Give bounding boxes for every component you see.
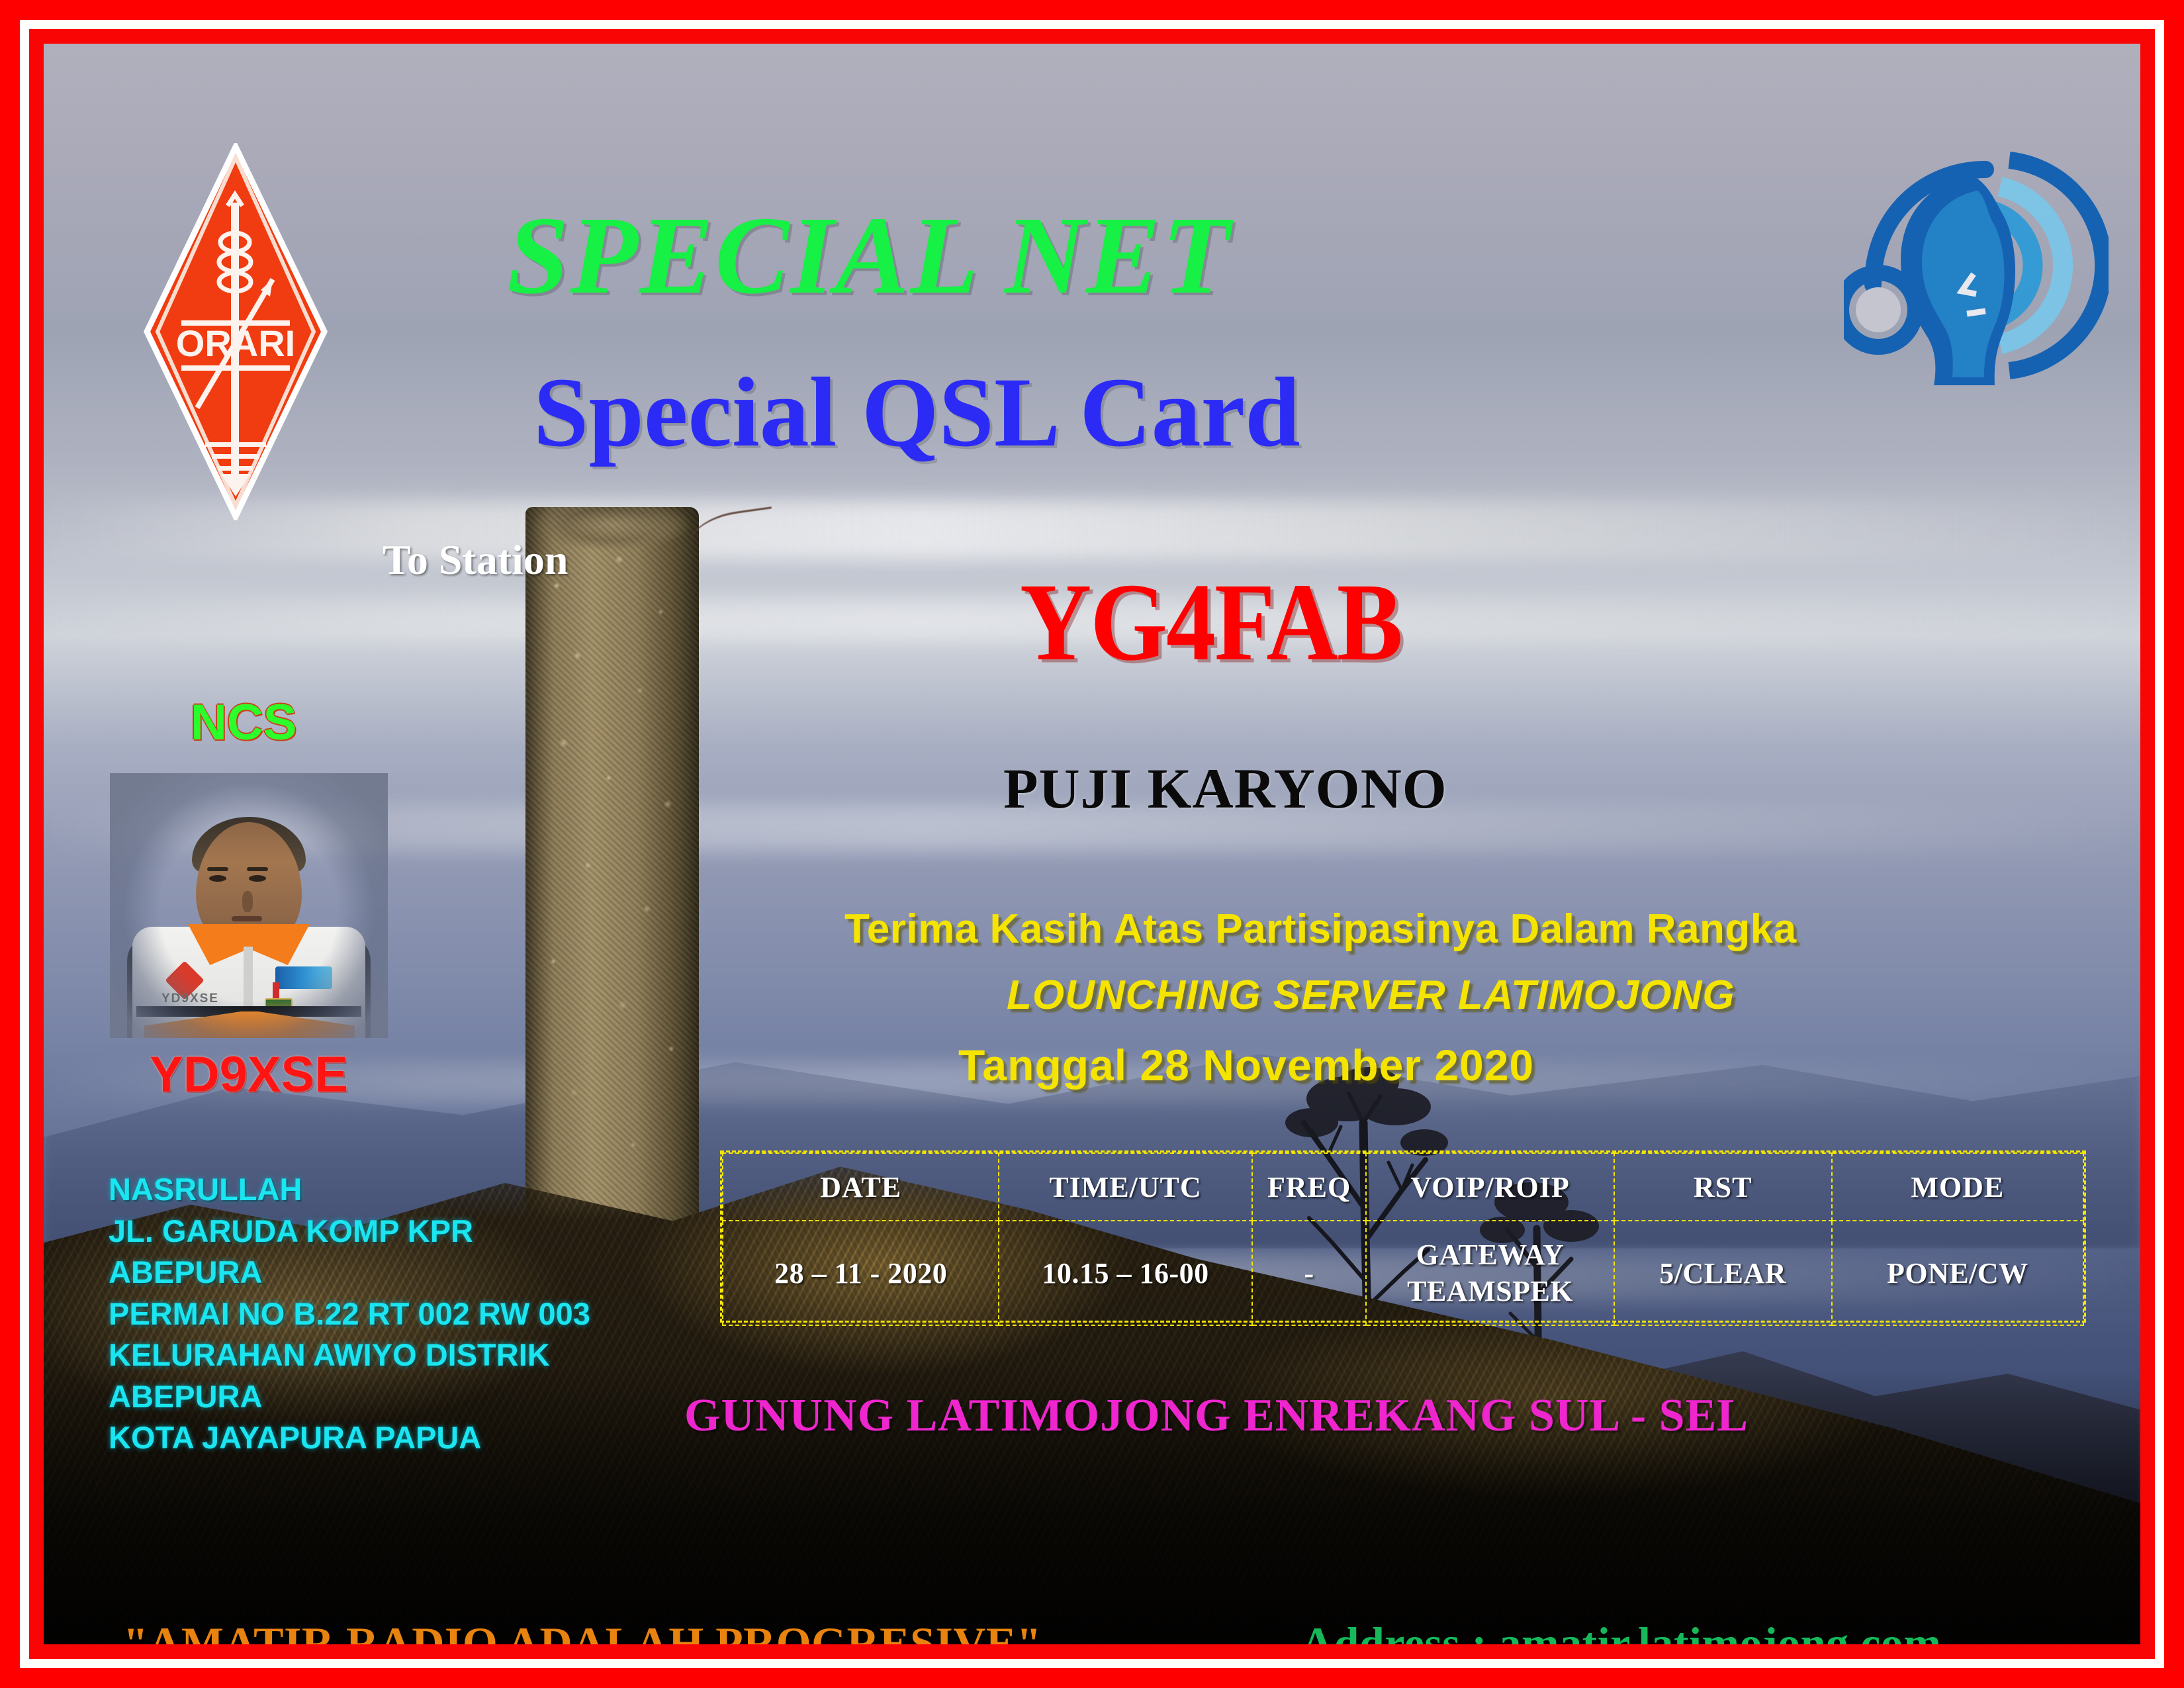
address-line: ABEPURA — [109, 1376, 590, 1418]
address-line: NASRULLAH — [109, 1169, 590, 1211]
subtitle: Special QSL Card — [533, 363, 1300, 462]
column-header-time: TIME/UTC — [999, 1153, 1251, 1221]
table-header-row: DATE TIME/UTC FREQ VOIP/ROIP RST MODE — [723, 1153, 2083, 1221]
cell-time: 10.15 – 16-00 — [999, 1221, 1251, 1325]
location-line: GUNUNG LATIMOJONG ENREKANG SUL - SEL — [684, 1393, 1749, 1439]
address-line: JL. GARUDA KOMP KPR — [109, 1211, 590, 1252]
address-line: KELURAHAN AWIYO DISTRIK — [109, 1335, 590, 1376]
column-header-voip: VOIP/ROIP — [1366, 1153, 1614, 1221]
column-header-mode: MODE — [1832, 1153, 2083, 1221]
website-address: Address : amatir.latimojong.com — [1301, 1620, 1941, 1644]
qsl-card: ORARI — [0, 0, 2184, 1688]
orari-wordmark: ORARI — [176, 322, 295, 364]
card-white-frame: ORARI — [20, 20, 2164, 1668]
cell-rst: 5/CLEAR — [1614, 1221, 1832, 1325]
table-row: 28 – 11 - 2020 10.15 – 16-00 - GATEWAY T… — [723, 1221, 2083, 1325]
card-photo-area: ORARI — [44, 44, 2140, 1644]
column-header-freq: FREQ — [1252, 1153, 1367, 1221]
photo-vignette — [110, 773, 388, 1038]
roip-headphone-logo — [1844, 143, 2109, 388]
cloud-band — [44, 500, 2140, 560]
address-line: KOTA JAYAPURA PAPUA — [109, 1417, 590, 1459]
address-line: PERMAI NO B.22 RT 002 RW 003 — [109, 1293, 590, 1335]
operator-name: PUJI KARYONO — [1003, 760, 1447, 817]
event-title: LOUNCHING SERVER LATIMOJONG — [1007, 975, 1735, 1016]
ncs-operator-photo: YD9XSE — [110, 773, 388, 1038]
page-title: SPECIAL NET — [507, 200, 1231, 311]
qso-details-table: DATE TIME/UTC FREQ VOIP/ROIP RST MODE 28… — [720, 1150, 2086, 1323]
cell-mode: PONE/CW — [1832, 1221, 2083, 1325]
orari-logo: ORARI — [143, 143, 328, 520]
thanks-line-1: Terima Kasih Atas Partisipasinya Dalam R… — [844, 909, 1797, 950]
column-header-date: DATE — [723, 1153, 999, 1221]
slogan-text: "AMATIR RADIO ADALAH PROGRESIVE" — [123, 1620, 1042, 1644]
ncs-address-block: NASRULLAH JL. GARUDA KOMP KPR ABEPURA PE… — [109, 1169, 590, 1459]
address-line: ABEPURA — [109, 1252, 590, 1293]
card-inner-red-frame: ORARI — [29, 29, 2155, 1659]
ncs-callsign: YD9XSE — [150, 1050, 348, 1100]
ncs-label: NCS — [191, 698, 296, 748]
cell-voip: GATEWAY TEAMSPEK — [1366, 1221, 1614, 1325]
cell-freq: - — [1252, 1221, 1367, 1325]
cell-date: 28 – 11 - 2020 — [723, 1221, 999, 1325]
event-date: Tanggal 28 November 2020 — [958, 1043, 1534, 1087]
to-station-label: To Station — [383, 539, 568, 581]
column-header-rst: RST — [1614, 1153, 1832, 1221]
station-callsign: YG4FAB — [1020, 567, 1402, 678]
